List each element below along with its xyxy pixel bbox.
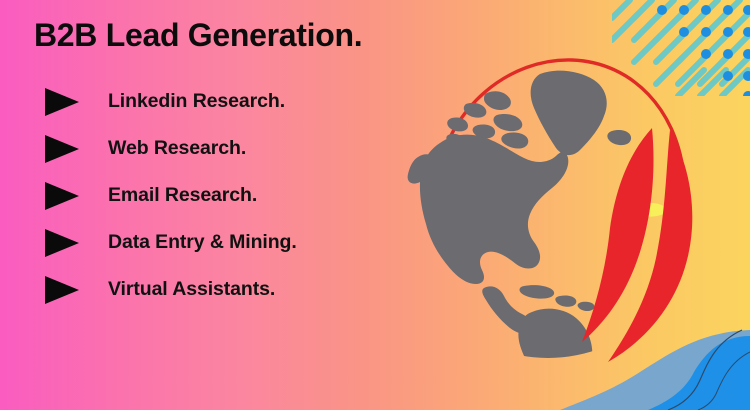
continents <box>408 71 631 410</box>
triangle-bullet-icon <box>45 276 79 304</box>
list-item: Web Research. <box>45 133 297 164</box>
service-label: Virtual Assistants. <box>108 278 275 301</box>
diagonal-dot-pattern <box>612 0 750 101</box>
globe-logo <box>408 60 693 410</box>
list-item: Email Research. <box>45 180 297 211</box>
triangle-bullet-icon <box>45 182 79 210</box>
service-label: Web Research. <box>108 137 246 160</box>
triangle-bullet-icon <box>45 229 79 257</box>
triangle-bullet-icon <box>45 135 79 163</box>
banner-canvas: B2B Lead Generation. Linkedin Research. … <box>0 0 750 410</box>
page-title: B2B Lead Generation. <box>34 16 362 54</box>
list-item: Virtual Assistants. <box>45 274 297 305</box>
service-label: Linkedin Research. <box>108 90 285 113</box>
list-item: Linkedin Research. <box>45 86 297 117</box>
service-label: Email Research. <box>108 184 257 207</box>
service-list: Linkedin Research. Web Research. Email R… <box>45 86 297 321</box>
triangle-bullet-icon <box>45 88 79 116</box>
list-item: Data Entry & Mining. <box>45 227 297 258</box>
service-label: Data Entry & Mining. <box>108 231 297 254</box>
